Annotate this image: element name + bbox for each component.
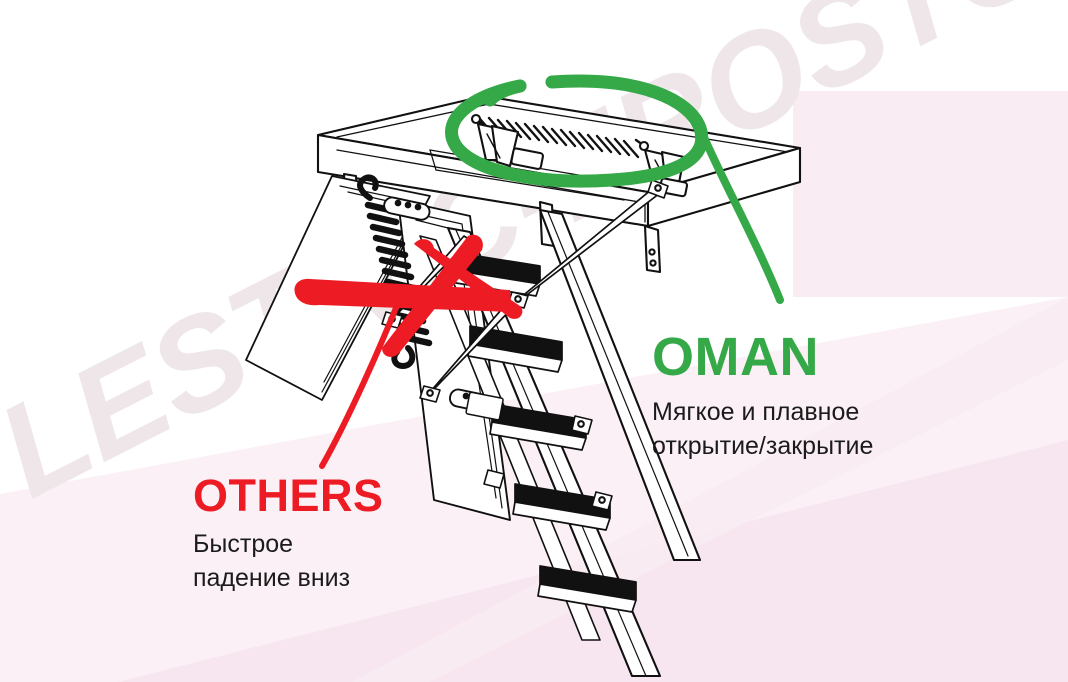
others-subtitle: Быстрое падение вниз xyxy=(193,528,384,596)
oman-subtitle-line-2: открытие/закрытие xyxy=(652,430,873,464)
comparison-infographic: LESTNIC-FROSTO.RU xyxy=(0,0,1068,682)
callout-oman: OMAN Мягкое и плавное открытие/закрытие xyxy=(652,330,873,464)
oman-subtitle-line-1: Мягкое и плавное xyxy=(652,396,873,430)
red-annotation-layer xyxy=(0,0,1068,682)
oman-subtitle: Мягкое и плавное открытие/закрытие xyxy=(652,396,873,464)
callout-others: OTHERS Быстрое падение вниз xyxy=(193,473,384,596)
oman-heading: OMAN xyxy=(652,330,873,384)
others-subtitle-line-1: Быстрое xyxy=(193,528,384,562)
others-heading: OTHERS xyxy=(193,473,384,518)
others-subtitle-line-2: падение вниз xyxy=(193,562,384,596)
